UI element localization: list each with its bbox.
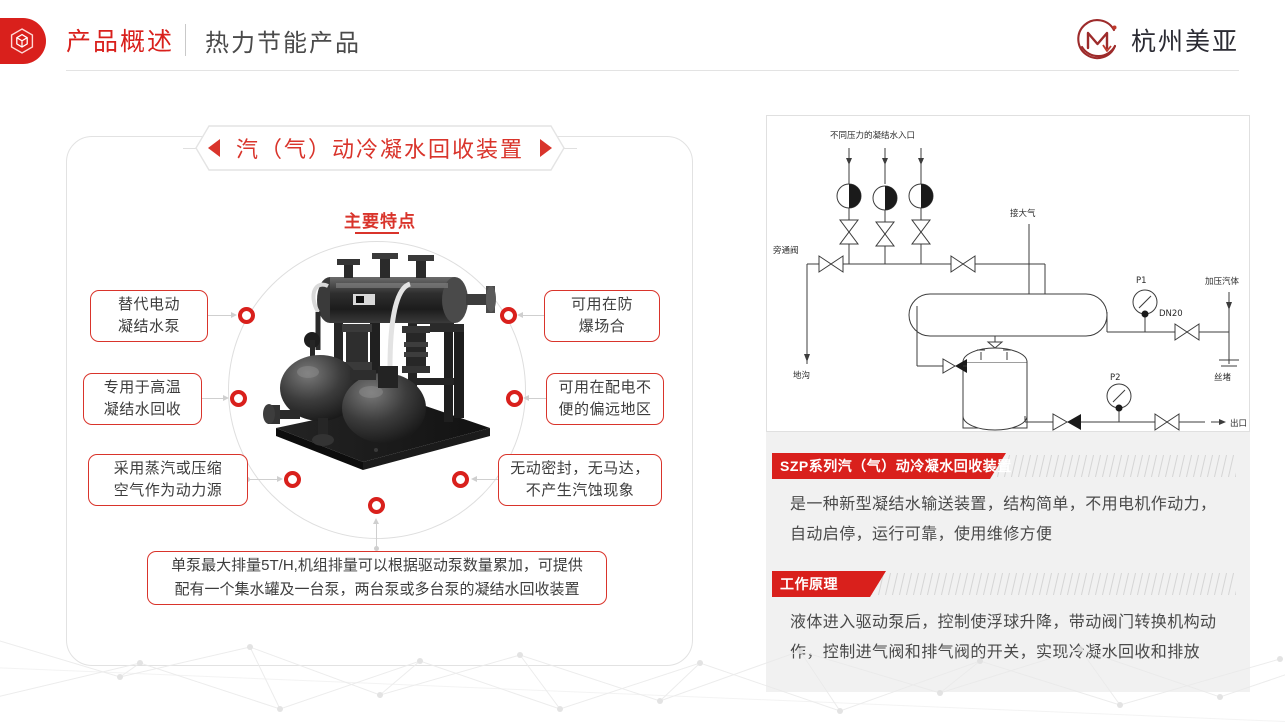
- feature-arrow-6: [471, 476, 477, 482]
- header-badge: [0, 18, 46, 64]
- banner-title: 汽（气）动冷凝水回收装置: [195, 125, 565, 171]
- diagram-label-atmosphere: 接大气: [1010, 208, 1036, 219]
- features-subtitle: 主要特点: [0, 207, 760, 232]
- slide-page: 产品概述 热力节能产品 杭州美亚 汽（: [0, 0, 1285, 725]
- feature-connector-7: [376, 520, 377, 548]
- feature-label-2: 专用于高温 凝结水回收: [104, 377, 182, 421]
- feature-connector-3: [248, 479, 278, 480]
- meiya-m-logo-icon: [1074, 16, 1122, 64]
- feature-node-2[interactable]: [230, 390, 247, 407]
- feature-label-3: 采用蒸汽或压缩 空气作为动力源: [114, 458, 223, 502]
- feature-box-6[interactable]: 无动密封，无马达， 不产生汽蚀现象: [498, 454, 662, 506]
- diagram-label-inlet: 不同压力的凝结水入口: [830, 130, 915, 141]
- hexagon-cube-icon: [9, 27, 35, 55]
- section-product-overview: SZP系列汽（气）动冷凝水回收装置 是一种新型凝结水输送装置，结构简单，不用电机…: [766, 453, 1250, 549]
- feature-box-7[interactable]: 单泵最大排量5T/H,机组排量可以根据驱动泵数量累加，可提供 配有一个集水罐及一…: [147, 551, 607, 605]
- feature-box-5[interactable]: 可用在配电不 便的偏远地区: [546, 373, 664, 425]
- feature-node-4[interactable]: [500, 307, 517, 324]
- diagram-label-gas: 加压汽体: [1205, 276, 1240, 287]
- right-content-panel: 不同压力的凝结水入口 旁通阀 接大气 地沟 P1 P2 DN20 加压汽体 丝堵…: [766, 115, 1250, 692]
- feature-box-1[interactable]: 替代电动 凝结水泵: [90, 290, 208, 342]
- feature-label-7: 单泵最大排量5T/H,机组排量可以根据驱动泵数量累加，可提供 配有一个集水罐及一…: [171, 554, 583, 602]
- section-working-principle: 工作原理 液体进入驱动泵后，控制使浮球升降，带动阀门转换机构动 作，控制进气阀和…: [766, 571, 1250, 667]
- brand-name: 杭州美亚: [1131, 22, 1239, 58]
- feature-label-4: 可用在防 爆场合: [571, 294, 633, 338]
- feature-label-5: 可用在配电不 便的偏远地区: [558, 377, 651, 421]
- feature-box-4[interactable]: 可用在防 爆场合: [544, 290, 660, 342]
- feature-arrow-2: [223, 395, 229, 401]
- section-1-title: SZP系列汽（气）动冷凝水回收装置: [780, 453, 1012, 479]
- diagram-label-drain: 地沟: [793, 370, 810, 381]
- section-2-body: 液体进入驱动泵后，控制使浮球升降，带动阀门转换机构动 作，控制进气阀和排气阀的开…: [766, 608, 1250, 667]
- feature-node-7[interactable]: [368, 497, 385, 514]
- feature-arrow-1: [231, 312, 237, 318]
- section-1-body: 是一种新型凝结水输送装置，结构简单，不用电机作动力， 自动启停，运行可靠，使用维…: [766, 490, 1250, 549]
- feature-box-3[interactable]: 采用蒸汽或压缩 空气作为动力源: [88, 454, 248, 506]
- brand-logo: 杭州美亚: [1074, 16, 1239, 64]
- diagram-label-bypass: 旁通阀: [773, 245, 799, 256]
- feature-connector-1: [206, 315, 232, 316]
- feature-arrow-3: [277, 476, 283, 482]
- section-2-title: 工作原理: [780, 571, 838, 597]
- page-title: 产品概述: [66, 22, 174, 58]
- equipment-photo: [258, 250, 503, 485]
- feature-arrow-4: [517, 312, 523, 318]
- diagram-label-p1: P1: [1136, 276, 1147, 286]
- features-subtitle-underline: [355, 232, 399, 234]
- page-header: 产品概述 热力节能产品 杭州美亚: [0, 0, 1285, 82]
- header-rule: [66, 70, 1239, 71]
- feature-node-3[interactable]: [284, 471, 301, 488]
- feature-node-6[interactable]: [452, 471, 469, 488]
- diagram-label-dn20: DN20: [1159, 309, 1183, 319]
- feature-arrow-5: [523, 395, 529, 401]
- pid-diagram: 不同压力的凝结水入口 旁通阀 接大气 地沟 P1 P2 DN20 加压汽体 丝堵…: [766, 115, 1250, 432]
- feature-node-5[interactable]: [506, 390, 523, 407]
- feature-node-1[interactable]: [238, 307, 255, 324]
- header-divider: [185, 24, 186, 56]
- page-subtitle: 热力节能产品: [205, 23, 361, 58]
- feature-box-2[interactable]: 专用于高温 凝结水回收: [83, 373, 202, 425]
- diagram-label-p2: P2: [1110, 373, 1121, 383]
- diagram-label-outlet: 出口: [1230, 418, 1247, 429]
- feature-label-1: 替代电动 凝结水泵: [118, 294, 180, 338]
- diagram-label-plug: 丝堵: [1214, 372, 1232, 383]
- feature-arrow-7: [373, 518, 379, 524]
- section-banner: 汽（气）动冷凝水回收装置: [195, 125, 565, 171]
- section-1-heading-bar: SZP系列汽（气）动冷凝水回收装置: [766, 453, 1250, 479]
- feature-connector-2: [200, 398, 224, 399]
- feature-label-6: 无动密封，无马达， 不产生汽蚀现象: [510, 458, 650, 502]
- section-2-heading-bar: 工作原理: [766, 571, 1250, 597]
